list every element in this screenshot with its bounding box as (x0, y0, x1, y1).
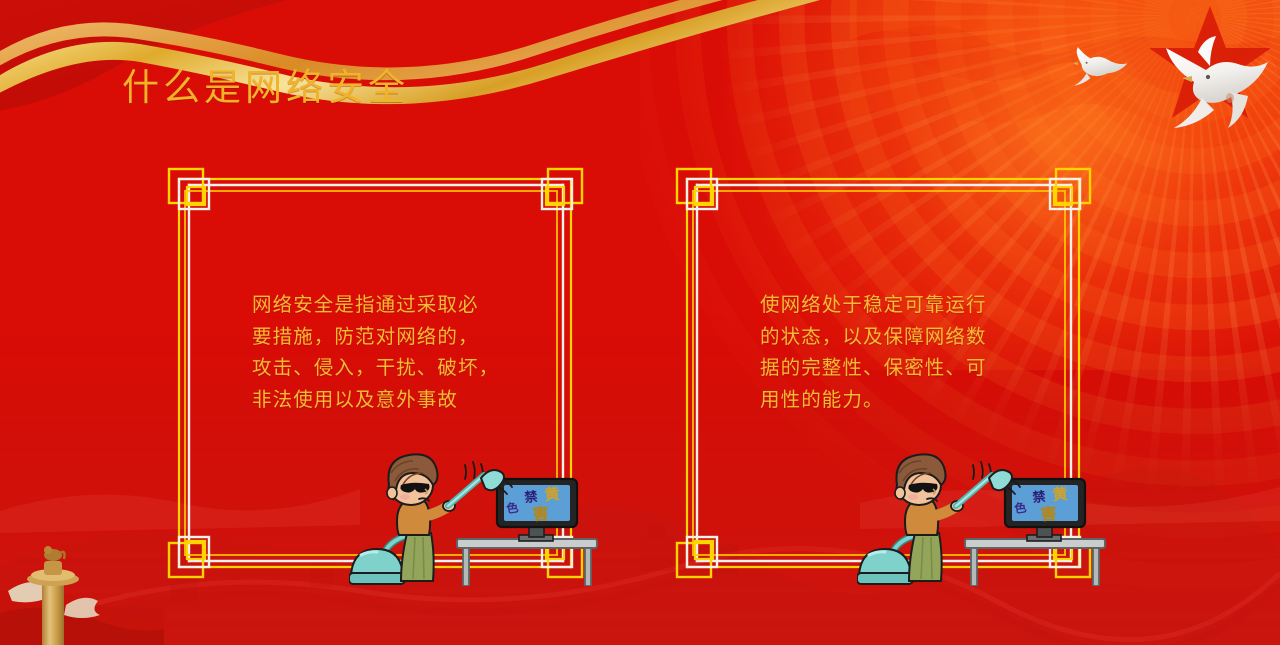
panel-right-text: 使网络处于稳定可靠运行 的状态，以及保障网络数 据的完整性、保密性、可 用性的能… (760, 290, 1020, 416)
vacuum-canister (349, 549, 405, 584)
monitor: 色 禁 黄 害 (497, 479, 577, 541)
text-line: 用性的能力。 (760, 385, 1020, 417)
huabiao-column-icon (0, 537, 164, 645)
woman-vacuuming-monitor-illustration: 色 禁 黄 害 (349, 451, 604, 586)
text-line: 据的完整性、保密性、可 (760, 353, 1020, 385)
text-line: 攻击、侵入，干扰、破坏， (252, 353, 512, 385)
doves-icon (1060, 28, 1280, 138)
desk (965, 539, 1105, 586)
slide-canvas: 什么是网络安全 (0, 0, 1280, 645)
panel-left-text: 网络安全是指通过采取必 要措施，防范对网络的， 攻击、侵入，干扰、破坏， 非法使… (252, 290, 512, 416)
svg-text:色: 色 (505, 499, 519, 516)
monitor: 色 禁 黄 害 (1005, 479, 1085, 541)
svg-text:禁: 禁 (1032, 489, 1047, 505)
content-panel-right: 使网络处于稳定可靠运行 的状态，以及保障网络数 据的完整性、保密性、可 用性的能… (673, 165, 1094, 581)
text-line: 非法使用以及意外事故 (252, 385, 512, 417)
desk (457, 539, 597, 586)
svg-text:黄: 黄 (1052, 485, 1069, 504)
text-line: 使网络处于稳定可靠运行 (760, 290, 1020, 322)
svg-text:害: 害 (1040, 504, 1057, 524)
text-line: 的状态，以及保障网络数 (760, 322, 1020, 354)
person (387, 454, 504, 581)
vacuum-canister (857, 549, 913, 584)
text-line: 网络安全是指通过采取必 (252, 290, 512, 322)
svg-text:黄: 黄 (544, 485, 561, 504)
text-line: 要措施，防范对网络的， (252, 322, 512, 354)
page-title: 什么是网络安全 (122, 57, 409, 111)
svg-text:色: 色 (1013, 499, 1027, 516)
person (895, 454, 1012, 581)
content-panel-left: 网络安全是指通过采取必 要措施，防范对网络的， 攻击、侵入，干扰、破坏， 非法使… (165, 165, 586, 581)
svg-text:害: 害 (532, 504, 549, 524)
svg-text:禁: 禁 (524, 489, 539, 505)
woman-vacuuming-monitor-illustration: 色 禁 黄 害 (857, 451, 1112, 586)
